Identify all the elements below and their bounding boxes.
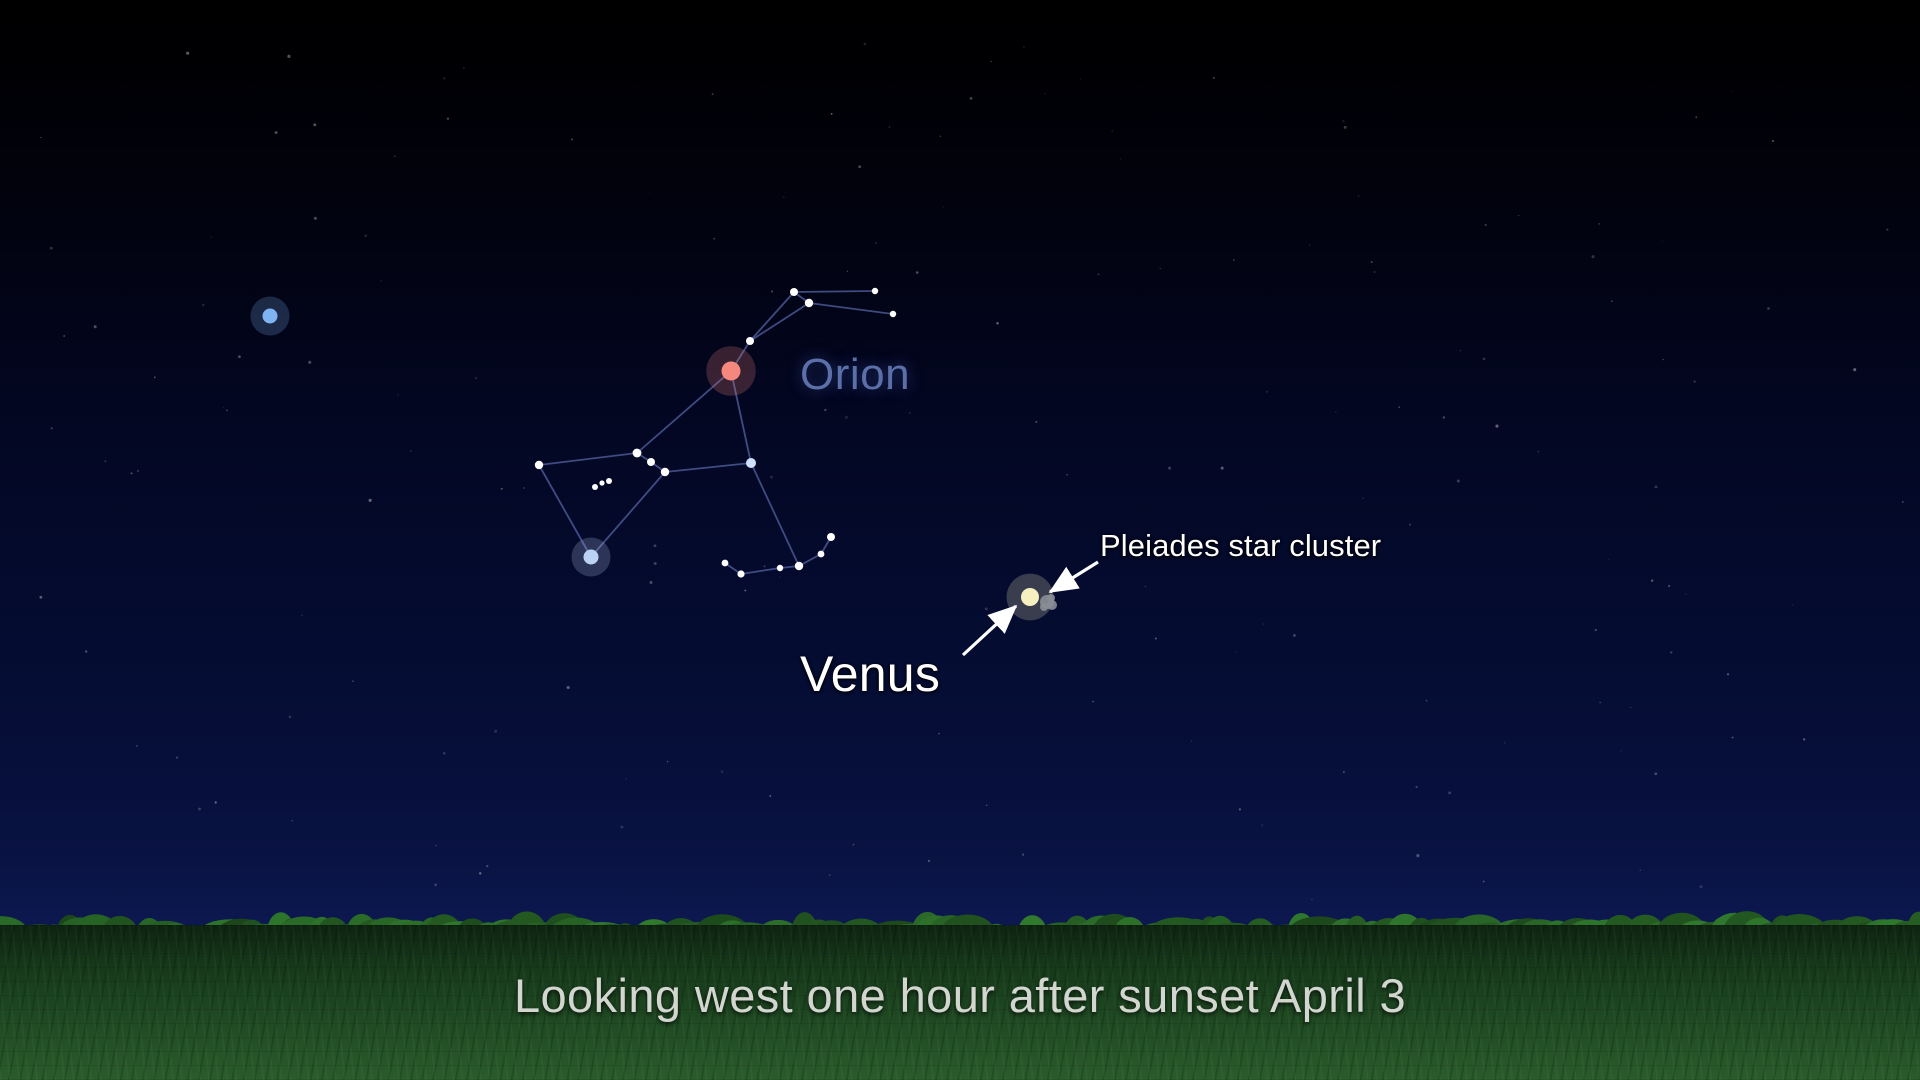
object-label-pleiades: Pleiades star cluster <box>1100 528 1381 564</box>
object-label-venus: Venus <box>800 645 940 703</box>
venus-arrow <box>963 606 1016 655</box>
sky-chart-scene: Orion Venus Pleiades star cluster Lookin… <box>0 0 1920 1080</box>
scene-caption: Looking west one hour after sunset April… <box>0 968 1920 1023</box>
pleiades-arrow <box>1050 562 1098 592</box>
annotation-arrows <box>0 0 1920 925</box>
